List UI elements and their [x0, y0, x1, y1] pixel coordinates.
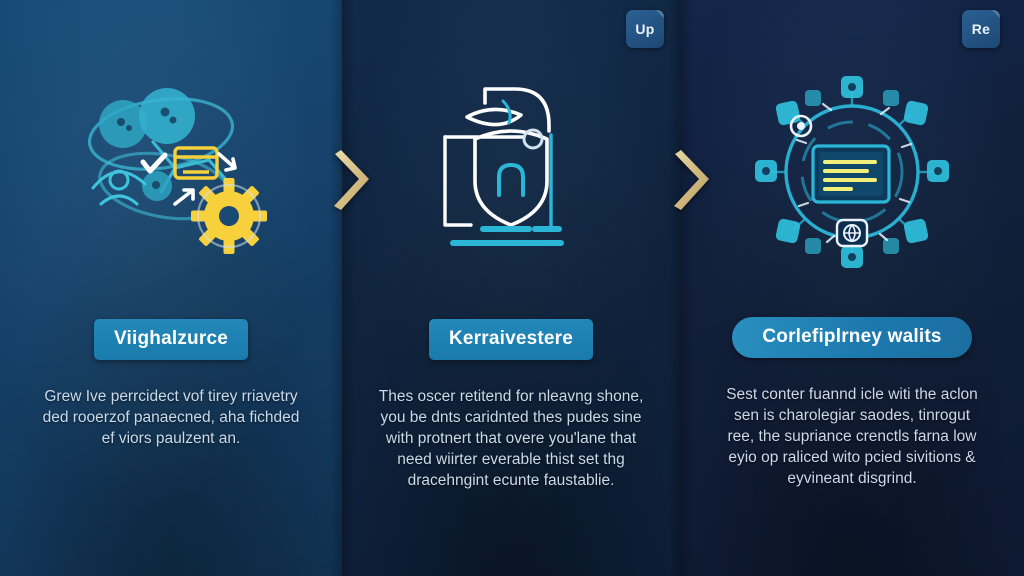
step-2-description: Thes oscer retitend for nleavng shone, y… — [375, 386, 647, 491]
step-1-title-badge[interactable]: Viighalzurce — [94, 319, 248, 360]
process-step-panel-1: Viighalzurce Grew Ive perrcidect vof tir… — [0, 0, 342, 576]
step-1-description: Grew Ive perrcidect vof tirey rriavetry … — [40, 386, 302, 449]
shield-lock-document-icon — [396, 74, 626, 269]
step-2-title-badge[interactable]: Kerraivestere — [429, 319, 593, 360]
step-3-description: Sest conter fuannd icle witi the aclon s… — [721, 384, 983, 489]
chevron-right-icon-2 — [669, 150, 715, 212]
cloud-network-gear-icon — [56, 74, 286, 269]
dog-ear-icon — [656, 10, 664, 18]
corner-badge-3-label: Re — [972, 21, 991, 37]
step-3-title-badge[interactable]: Corlefiplrney walits — [732, 317, 971, 358]
process-step-panel-2: Kerraivestere Thes oscer retitend for nl… — [342, 0, 680, 576]
chevron-right-icon-1 — [329, 150, 375, 212]
hub-document-network-icon — [737, 74, 967, 269]
corner-badge-panel-2[interactable]: Up — [626, 10, 664, 48]
process-step-panel-3: Corlefiplrney walits Sest conter fuannd … — [680, 0, 1024, 576]
corner-badge-2-label: Up — [635, 21, 654, 37]
infographic-canvas: Viighalzurce Grew Ive perrcidect vof tir… — [0, 0, 1024, 576]
corner-badge-panel-3[interactable]: Re — [962, 10, 1000, 48]
dog-ear-icon — [992, 10, 1000, 18]
